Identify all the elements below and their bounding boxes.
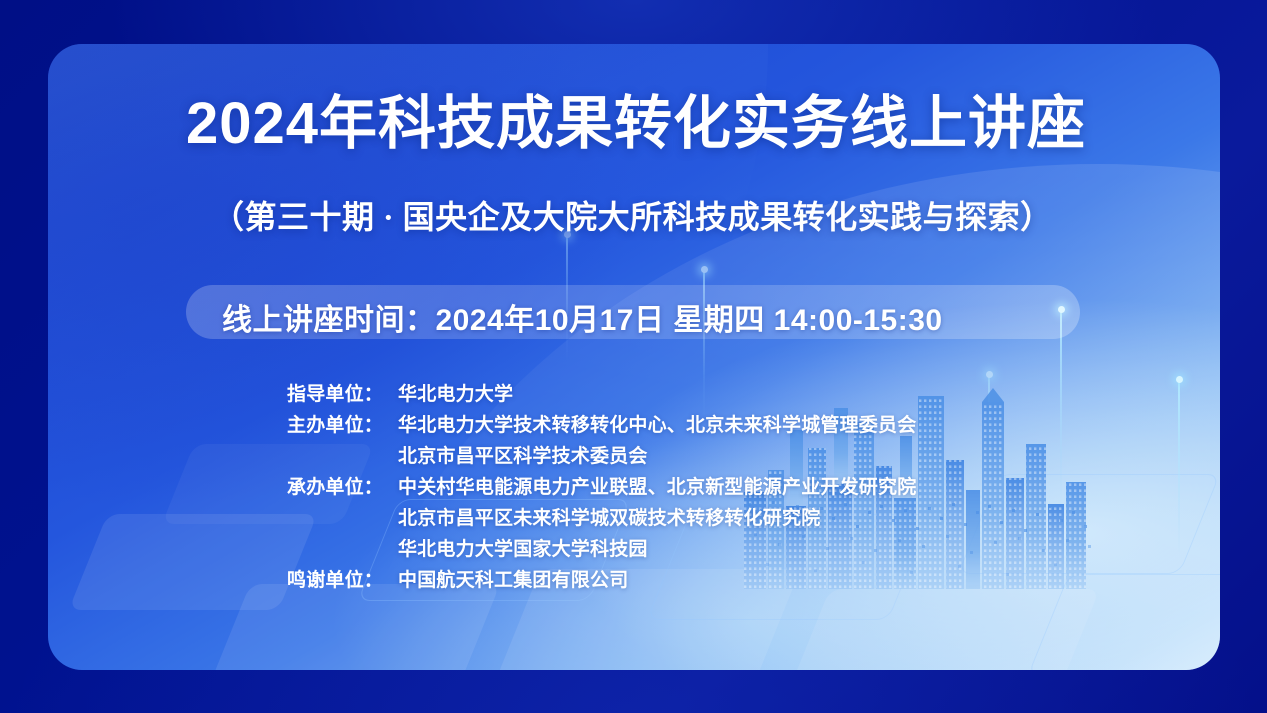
poster-content: 2024年科技成果转化实务线上讲座 （第三十期 · 国央企及大院大所科技成果转化… xyxy=(0,0,1267,713)
poster-canvas: 2024年科技成果转化实务线上讲座 （第三十期 · 国央企及大院大所科技成果转化… xyxy=(0,0,1267,713)
time-banner-text: 线上讲座时间：2024年10月17日 星期四 14:00-15:30 xyxy=(222,295,943,339)
org-label: 主办单位： xyxy=(287,410,398,437)
org-value: 华北电力大学 xyxy=(398,379,513,406)
org-label: 鸣谢单位： xyxy=(287,565,398,592)
list-item: 北京市昌平区科学技术委员会 xyxy=(287,441,916,472)
org-value: 北京市昌平区科学技术委员会 xyxy=(398,441,648,468)
list-item: 主办单位： 华北电力大学技术转移转化中心、北京未来科学城管理委员会 xyxy=(287,410,916,441)
page-subtitle: （第三十期 · 国央企及大院大所科技成果转化实践与探索） xyxy=(212,192,1053,238)
org-value: 中关村华电能源电力产业联盟、北京新型能源产业开发研究院 xyxy=(398,472,916,499)
page-title: 2024年科技成果转化实务线上讲座 xyxy=(186,92,1086,156)
org-value: 北京市昌平区未来科学城双碳技术转移转化研究院 xyxy=(398,503,820,530)
org-label: 指导单位： xyxy=(287,379,398,406)
organizations-list: 指导单位： 华北电力大学 主办单位： 华北电力大学技术转移转化中心、北京未来科学… xyxy=(287,379,916,596)
org-value: 中国航天科工集团有限公司 xyxy=(398,565,628,592)
org-value: 华北电力大学技术转移转化中心、北京未来科学城管理委员会 xyxy=(398,410,916,437)
org-value: 华北电力大学国家大学科技园 xyxy=(398,534,648,561)
list-item: 北京市昌平区未来科学城双碳技术转移转化研究院 xyxy=(287,503,916,534)
list-item: 指导单位： 华北电力大学 xyxy=(287,379,916,410)
org-label: 承办单位： xyxy=(287,472,398,499)
list-item: 承办单位： 中关村华电能源电力产业联盟、北京新型能源产业开发研究院 xyxy=(287,472,916,503)
list-item: 鸣谢单位： 中国航天科工集团有限公司 xyxy=(287,565,916,596)
list-item: 华北电力大学国家大学科技园 xyxy=(287,534,916,565)
